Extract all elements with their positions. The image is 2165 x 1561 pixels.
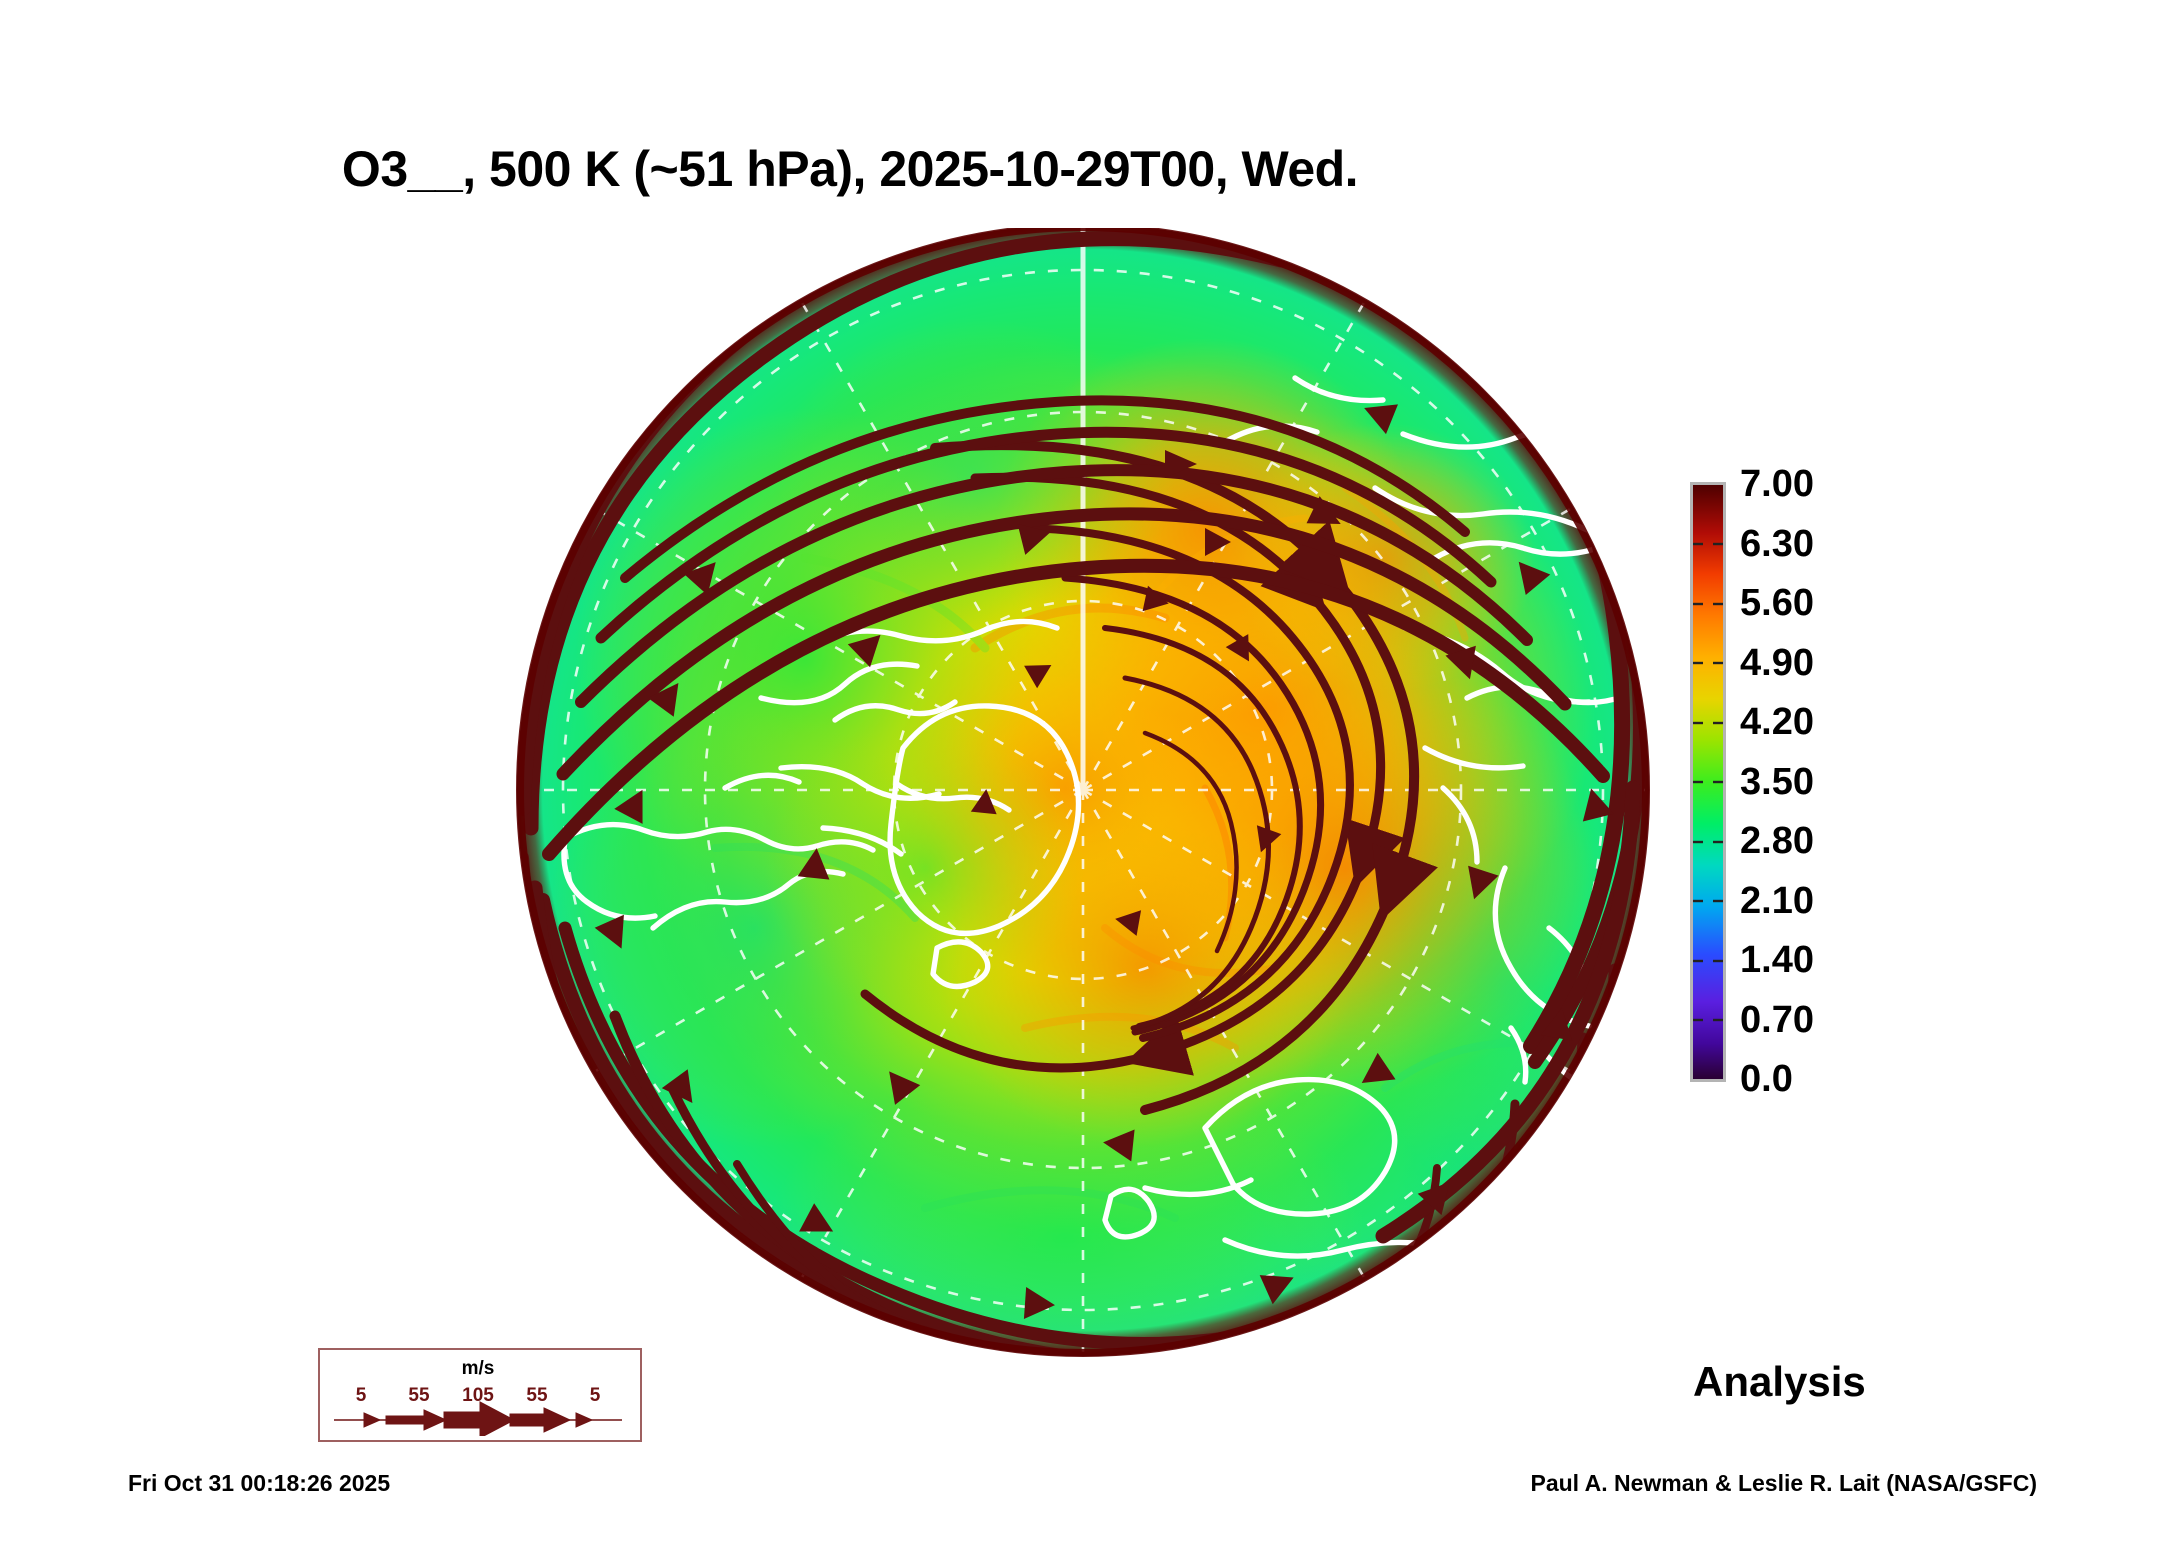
colorbar-tick-8: 1.40 — [1740, 941, 1814, 979]
colorbar-tick-4: 4.20 — [1740, 703, 1814, 741]
wind-legend-value-1: 55 — [408, 1385, 430, 1406]
generated-timestamp: Fri Oct 31 00:18:26 2025 — [128, 1470, 390, 1497]
page-title: O3__, 500 K (~51 hPa), 2025-10-29T00, We… — [0, 140, 1700, 198]
colorbar-tick-2: 5.60 — [1740, 584, 1814, 622]
wind-legend-arrow-scale — [334, 1402, 622, 1436]
colorbar-tick-7: 2.10 — [1740, 882, 1814, 920]
colorbar-tick-0: 7.00 — [1740, 465, 1814, 503]
wind-legend-units: m/s — [462, 1358, 495, 1379]
colorbar-tick-9: 0.70 — [1740, 1001, 1814, 1039]
analysis-label: Analysis — [1693, 1358, 1866, 1406]
colorbar-tick-5: 3.50 — [1740, 763, 1814, 801]
colorbar-tick-1: 6.30 — [1740, 525, 1814, 563]
colorbar-tick-10: 0.0 — [1740, 1060, 1793, 1098]
wind-speed-legend: m/s 5 55 105 55 5 — [318, 1348, 642, 1442]
wind-legend-value-4: 5 — [590, 1385, 601, 1406]
colorbar-tick-6: 2.80 — [1740, 822, 1814, 860]
colorbar-tick-3: 4.90 — [1740, 644, 1814, 682]
colorbar: 7.00 6.30 5.60 4.90 4.20 3.50 2.80 2.10 … — [1688, 470, 2018, 1110]
wind-legend-value-3: 55 — [526, 1385, 548, 1406]
wind-legend-value-2: 105 — [462, 1385, 494, 1406]
wind-legend-value-0: 5 — [356, 1385, 367, 1406]
polar-stereographic-map — [505, 228, 1655, 1358]
author-credit: Paul A. Newman & Leslie R. Lait (NASA/GS… — [1530, 1470, 2037, 1497]
